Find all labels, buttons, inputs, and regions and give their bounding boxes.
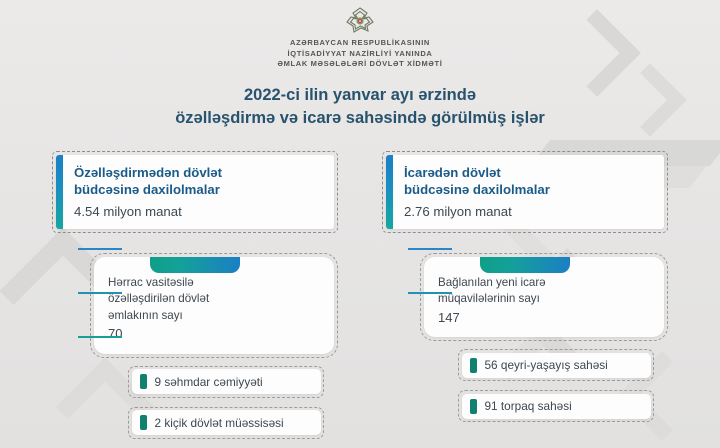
org-line-2: İQTİSADİYYAT NAZİRLİYİ YANINDA xyxy=(0,49,720,60)
list-item-label: 2 kiçik dövlət müəssisəsi xyxy=(155,416,284,430)
org-line-1: AZƏRBAYCAN RESPUBLİKASININ xyxy=(0,38,720,49)
infographic-poster: AZƏRBAYCAN RESPUBLİKASININ İQTİSADİYYAT … xyxy=(0,0,720,448)
card-contract-count: Bağlanılan yeni icarə müqavilələrinin sa… xyxy=(424,257,664,337)
bullet-marker-icon xyxy=(140,374,147,389)
stat-heading-line-2: büdcəsinə daxilolmalar xyxy=(404,181,550,198)
bullet-marker-icon xyxy=(140,415,147,430)
column-rent: İcarədən dövlət büdcəsinə daxilolmalar 2… xyxy=(382,151,668,448)
page-title: 2022-ci ilin yanvar ayı ərzində özəlləşd… xyxy=(0,84,720,131)
stat-heading-line-2: büdcəsinə daxilolmalar xyxy=(74,181,222,198)
columns-container: Özəlləşdirmədən dövlət büdcəsinə daxilol… xyxy=(0,151,720,448)
card-number: 70 xyxy=(108,324,320,344)
list-item-label: 91 torpaq sahəsi xyxy=(485,399,572,413)
items-list-rent: 56 qeyri-yaşayış sahəsi 91 torpaq sahəsi xyxy=(382,349,668,422)
title-line-1: 2022-ci ilin yanvar ayı ərzində xyxy=(0,84,720,107)
card-text-line-1: Bağlanılan yeni icarə xyxy=(438,275,650,291)
accent-bar xyxy=(386,155,393,229)
list-item-label: 9 səhmdar cəmiyyəti xyxy=(155,375,263,389)
stat-box-outline: İcarədən dövlət büdcəsinə daxilolmalar 2… xyxy=(382,151,668,233)
title-line-2: özəlləşdirmə və icarə sahəsində görülmüş… xyxy=(0,107,720,130)
items-list-privatization: 9 səhmdar cəmiyyəti 2 kiçik dövlət müəss… xyxy=(52,366,338,448)
ribbon-tab xyxy=(150,257,240,273)
ribbon-tab xyxy=(480,257,570,273)
list-item: 9 səhmdar cəmiyyəti xyxy=(132,369,321,394)
bullet-marker-icon xyxy=(470,358,477,373)
stat-heading-line-1: Özəlləşdirmədən dövlət xyxy=(74,164,222,181)
list-item: 2 kiçik dövlət müəssisəsi xyxy=(132,410,321,435)
card-text-line-2: özəlləşdirilən dövlət xyxy=(108,291,320,307)
list-item: 56 qeyri-yaşayış sahəsi xyxy=(462,353,651,378)
connector-tree xyxy=(400,227,458,347)
connector-tree xyxy=(70,227,128,347)
stat-value: 2.76 milyon manat xyxy=(404,203,550,220)
accent-bar xyxy=(56,155,63,229)
stat-value: 4.54 milyon manat xyxy=(74,203,222,220)
card-text-line-3: əmlakının sayı xyxy=(108,308,320,324)
stat-box-outline: Özəlləşdirmədən dövlət büdcəsinə daxilol… xyxy=(52,151,338,233)
column-privatization: Özəlləşdirmədən dövlət büdcəsinə daxilol… xyxy=(52,151,338,448)
list-item: 91 torpaq sahəsi xyxy=(462,394,651,419)
card-auction-count: Hərrac vasitəsilə özəlləşdirilən dövlət … xyxy=(94,257,334,354)
stat-box-rent: İcarədən dövlət büdcəsinə daxilolmalar 2… xyxy=(386,155,664,229)
list-item-outline: 56 qeyri-yaşayış sahəsi xyxy=(458,349,654,381)
list-item-outline: 9 səhmdar cəmiyyəti xyxy=(128,366,324,398)
list-item-outline: 91 torpaq sahəsi xyxy=(458,390,654,422)
bullet-marker-icon xyxy=(470,399,477,414)
list-item-outline: 2 kiçik dövlət müəssisəsi xyxy=(128,407,324,439)
stat-heading-line-1: İcarədən dövlət xyxy=(404,164,550,181)
card-text-line-1: Hərrac vasitəsilə xyxy=(108,275,320,291)
org-line-3: ƏMLAK MƏSƏLƏLƏRİ DÖVLƏT XİDMƏTİ xyxy=(0,59,720,70)
emblem-icon xyxy=(337,5,383,35)
list-item-label: 56 qeyri-yaşayış sahəsi xyxy=(485,358,608,372)
poster-header: AZƏRBAYCAN RESPUBLİKASININ İQTİSADİYYAT … xyxy=(0,0,720,70)
card-number: 147 xyxy=(438,308,650,328)
card-text-line-2: müqavilələrinin sayı xyxy=(438,291,650,307)
stat-box-privatization: Özəlləşdirmədən dövlət büdcəsinə daxilol… xyxy=(56,155,334,229)
